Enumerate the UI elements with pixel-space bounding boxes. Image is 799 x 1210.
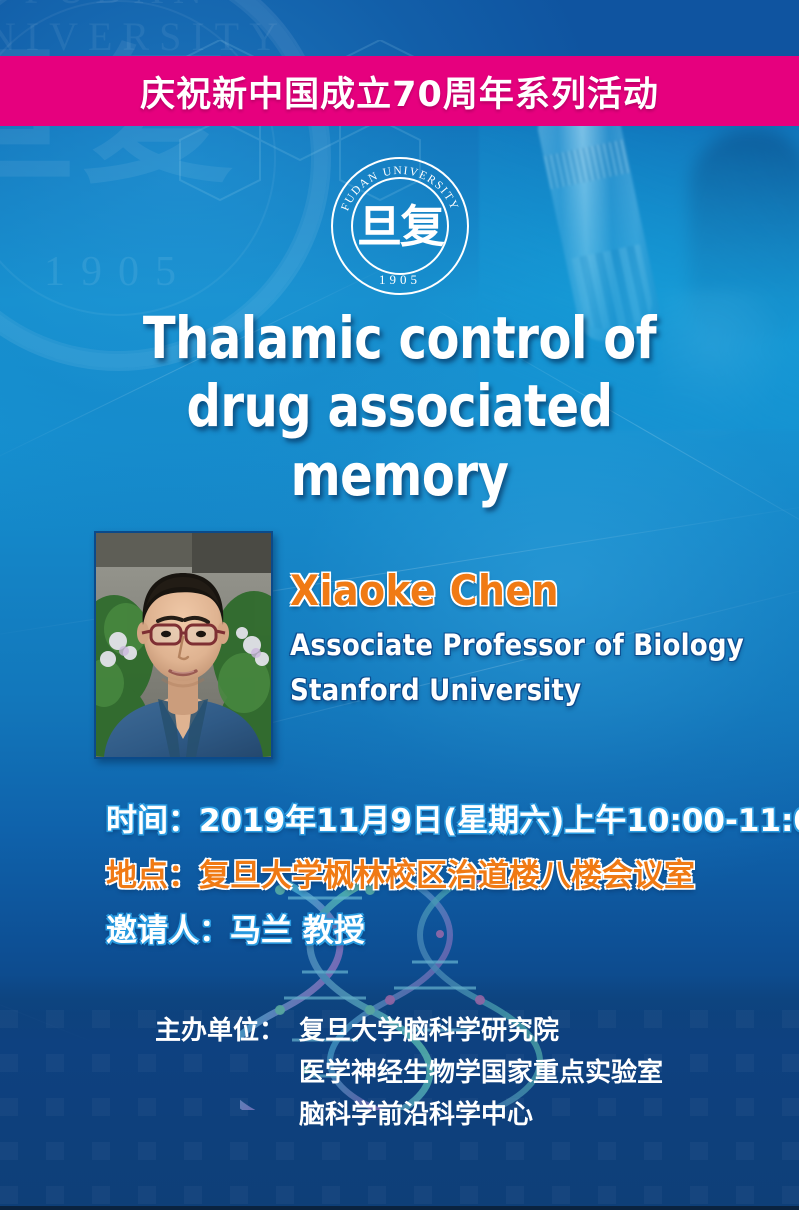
bottom-border-rule [0,1206,799,1210]
event-time: 时间：2019年11月9日(星期六)上午10:00-11:00 [106,794,746,849]
organizers-section: 主办单位： 复旦大学脑科学研究院 医学神经生物学国家重点实验室 脑科学前沿科学中… [155,1010,663,1136]
event-inviter: 邀请人：马兰 教授 [106,904,746,959]
speaker-title: Associate Professor of Biology [290,623,760,668]
speaker-info: Xiaoke Chen Associate Professor of Biolo… [290,566,760,713]
lecture-title: Thalamic control of drug associated memo… [87,304,712,509]
lecture-title-line-2: drug associated [87,372,712,440]
speaker-photo [94,531,273,759]
celebration-banner-text: 庆祝新中国成立70周年系列活动 [140,66,659,117]
organizers-list: 复旦大学脑科学研究院 医学神经生物学国家重点实验室 脑科学前沿科学中心 [299,1010,663,1136]
event-details: 时间：2019年11月9日(星期六)上午10:00-11:00 地点：复旦大学枫… [106,794,746,960]
event-location: 地点：复旦大学枫林校区治道楼八楼会议室 [106,849,746,904]
seal-year-label: 1905 [331,272,469,288]
organizer-item: 复旦大学脑科学研究院 [299,1010,663,1052]
speaker-institution: Stanford University [290,668,760,713]
organizer-item: 脑科学前沿科学中心 [299,1094,663,1136]
organizer-item: 医学神经生物学国家重点实验室 [299,1052,663,1094]
speaker-name: Xiaoke Chen [290,566,760,615]
organizers-label: 主办单位： [155,1010,285,1052]
watermark-seal-year: 1905 [0,248,328,296]
lecture-title-line-1: Thalamic control of [87,304,712,372]
lecture-title-line-3: memory [87,441,712,509]
seminar-poster: FUDAN UNIVERSITY 旦复 1905 [0,0,799,1210]
celebration-banner: 庆祝新中国成立70周年系列活动 [0,56,799,126]
fudan-university-seal-icon: FUDAN UNIVERSITY 旦复 1905 [331,157,469,295]
seal-characters: 旦复 [351,177,449,275]
